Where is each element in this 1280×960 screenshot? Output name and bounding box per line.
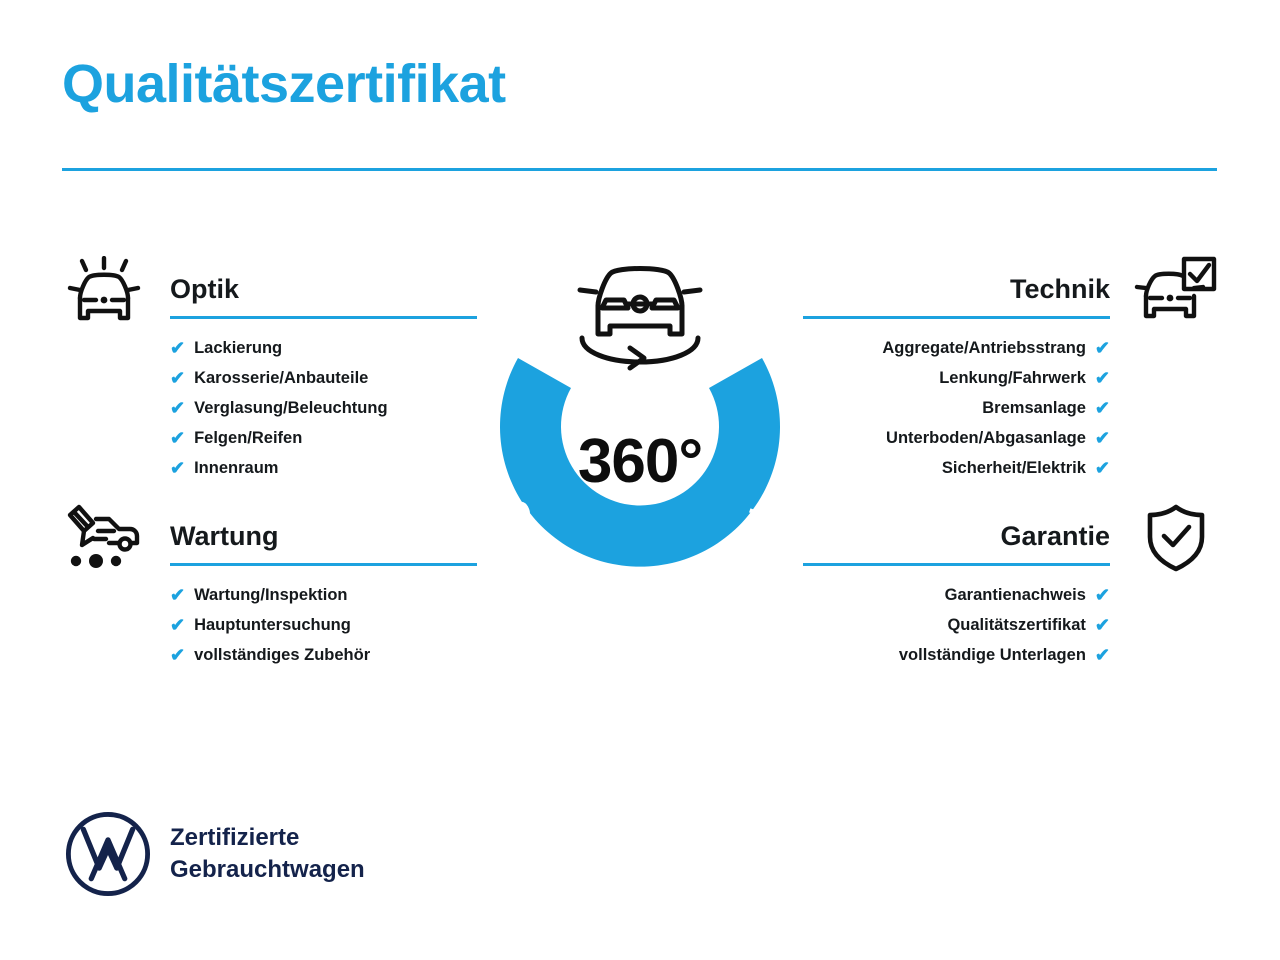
checklist-wartung: ✔Wartung/Inspektion ✔Hauptuntersuchung ✔… xyxy=(62,580,477,670)
check-icon: ✔ xyxy=(1095,646,1110,664)
list-item-label: Innenraum xyxy=(194,453,278,483)
list-item-label: Verglasung/Beleuchtung xyxy=(194,393,387,423)
list-item-label: Garantienachweis xyxy=(945,580,1086,610)
check-icon: ✔ xyxy=(170,369,185,387)
section-title-garantie: Garantie xyxy=(803,505,1110,567)
check-icon: ✔ xyxy=(170,399,185,417)
check-icon: ✔ xyxy=(170,459,185,477)
list-item: Lenkung/Fahrwerk✔ xyxy=(803,363,1218,393)
list-item: vollständige Unterlagen✔ xyxy=(803,640,1218,670)
footer-line-2: Gebrauchtwagen xyxy=(170,854,365,886)
section-technik: Technik Aggregate/Antriebsstrang✔ Lenkun… xyxy=(803,258,1218,499)
list-item-label: Karosserie/Anbauteile xyxy=(194,363,368,393)
list-item-label: Qualitätszertifikat xyxy=(947,610,1085,640)
footer-line-1: Zertifizierte xyxy=(170,822,365,854)
section-title-technik: Technik xyxy=(803,258,1110,320)
list-item-label: Hauptuntersuchung xyxy=(194,610,351,640)
list-item: Sicherheit/Elektrik✔ xyxy=(803,453,1218,483)
list-item-label: Wartung/Inspektion xyxy=(194,580,347,610)
list-item-label: Sicherheit/Elektrik xyxy=(942,453,1086,483)
check-icon: ✔ xyxy=(170,339,185,357)
list-item-label: Felgen/Reifen xyxy=(194,423,302,453)
certificate-page: Qualitätszertifikat Optik xyxy=(0,0,1280,960)
list-item: ✔vollständiges Zubehör xyxy=(62,640,477,670)
badge-center-label: 360° xyxy=(458,426,822,497)
check-icon: ✔ xyxy=(1095,369,1110,387)
list-item: Aggregate/Antriebsstrang✔ xyxy=(803,333,1218,363)
list-item-label: vollständiges Zubehör xyxy=(194,640,370,670)
check-icon: ✔ xyxy=(1095,399,1110,417)
badge-360-gebrauchtwagen-check: Gebrauchtwagen-Check 360° xyxy=(458,238,822,618)
list-item: ✔Lackierung xyxy=(62,333,477,363)
list-item: ✔Innenraum xyxy=(62,453,477,483)
list-item: ✔Verglasung/Beleuchtung xyxy=(62,393,477,423)
check-icon: ✔ xyxy=(1095,339,1110,357)
list-item: ✔Felgen/Reifen xyxy=(62,423,477,453)
check-icon: ✔ xyxy=(1095,616,1110,634)
section-wartung: Wartung ✔Wartung/Inspektion ✔Hauptunters… xyxy=(62,505,477,686)
checklist-technik: Aggregate/Antriebsstrang✔ Lenkung/Fahrwe… xyxy=(803,333,1218,483)
list-item: ✔Karosserie/Anbauteile xyxy=(62,363,477,393)
check-icon: ✔ xyxy=(170,586,185,604)
check-icon: ✔ xyxy=(170,646,185,664)
check-icon: ✔ xyxy=(170,616,185,634)
page-title: Qualitätszertifikat xyxy=(62,55,506,114)
header-divider xyxy=(62,168,1217,171)
check-icon: ✔ xyxy=(1095,459,1110,477)
list-item: ✔Wartung/Inspektion xyxy=(62,580,477,610)
check-icon: ✔ xyxy=(1095,429,1110,447)
list-item-label: Bremsanlage xyxy=(982,393,1086,423)
section-optik: Optik ✔Lackierung ✔Karosserie/Anbauteile… xyxy=(62,258,477,499)
footer-brand-text: Zertifizierte Gebrauchtwagen xyxy=(170,822,365,885)
section-title-wartung: Wartung xyxy=(170,505,477,567)
section-garantie: Garantie Garantienachweis✔ Qualitätszert… xyxy=(803,505,1218,686)
list-item: ✔Hauptuntersuchung xyxy=(62,610,477,640)
section-title-optik: Optik xyxy=(170,258,477,320)
check-icon: ✔ xyxy=(170,429,185,447)
vw-logo xyxy=(64,810,152,898)
list-item-label: vollständige Unterlagen xyxy=(899,640,1086,670)
list-item: Bremsanlage✔ xyxy=(803,393,1218,423)
list-item-label: Aggregate/Antriebsstrang xyxy=(882,333,1086,363)
checklist-optik: ✔Lackierung ✔Karosserie/Anbauteile ✔Verg… xyxy=(62,333,477,483)
list-item-label: Lackierung xyxy=(194,333,282,363)
list-item: Unterboden/Abgasanlage✔ xyxy=(803,423,1218,453)
list-item: Qualitätszertifikat✔ xyxy=(803,610,1218,640)
check-icon: ✔ xyxy=(1095,586,1110,604)
car-rotation-icon xyxy=(580,269,700,369)
list-item-label: Unterboden/Abgasanlage xyxy=(886,423,1086,453)
list-item: Garantienachweis✔ xyxy=(803,580,1218,610)
list-item-label: Lenkung/Fahrwerk xyxy=(939,363,1086,393)
footer-brand: Zertifizierte Gebrauchtwagen xyxy=(64,810,365,898)
checklist-garantie: Garantienachweis✔ Qualitätszertifikat✔ v… xyxy=(803,580,1218,670)
